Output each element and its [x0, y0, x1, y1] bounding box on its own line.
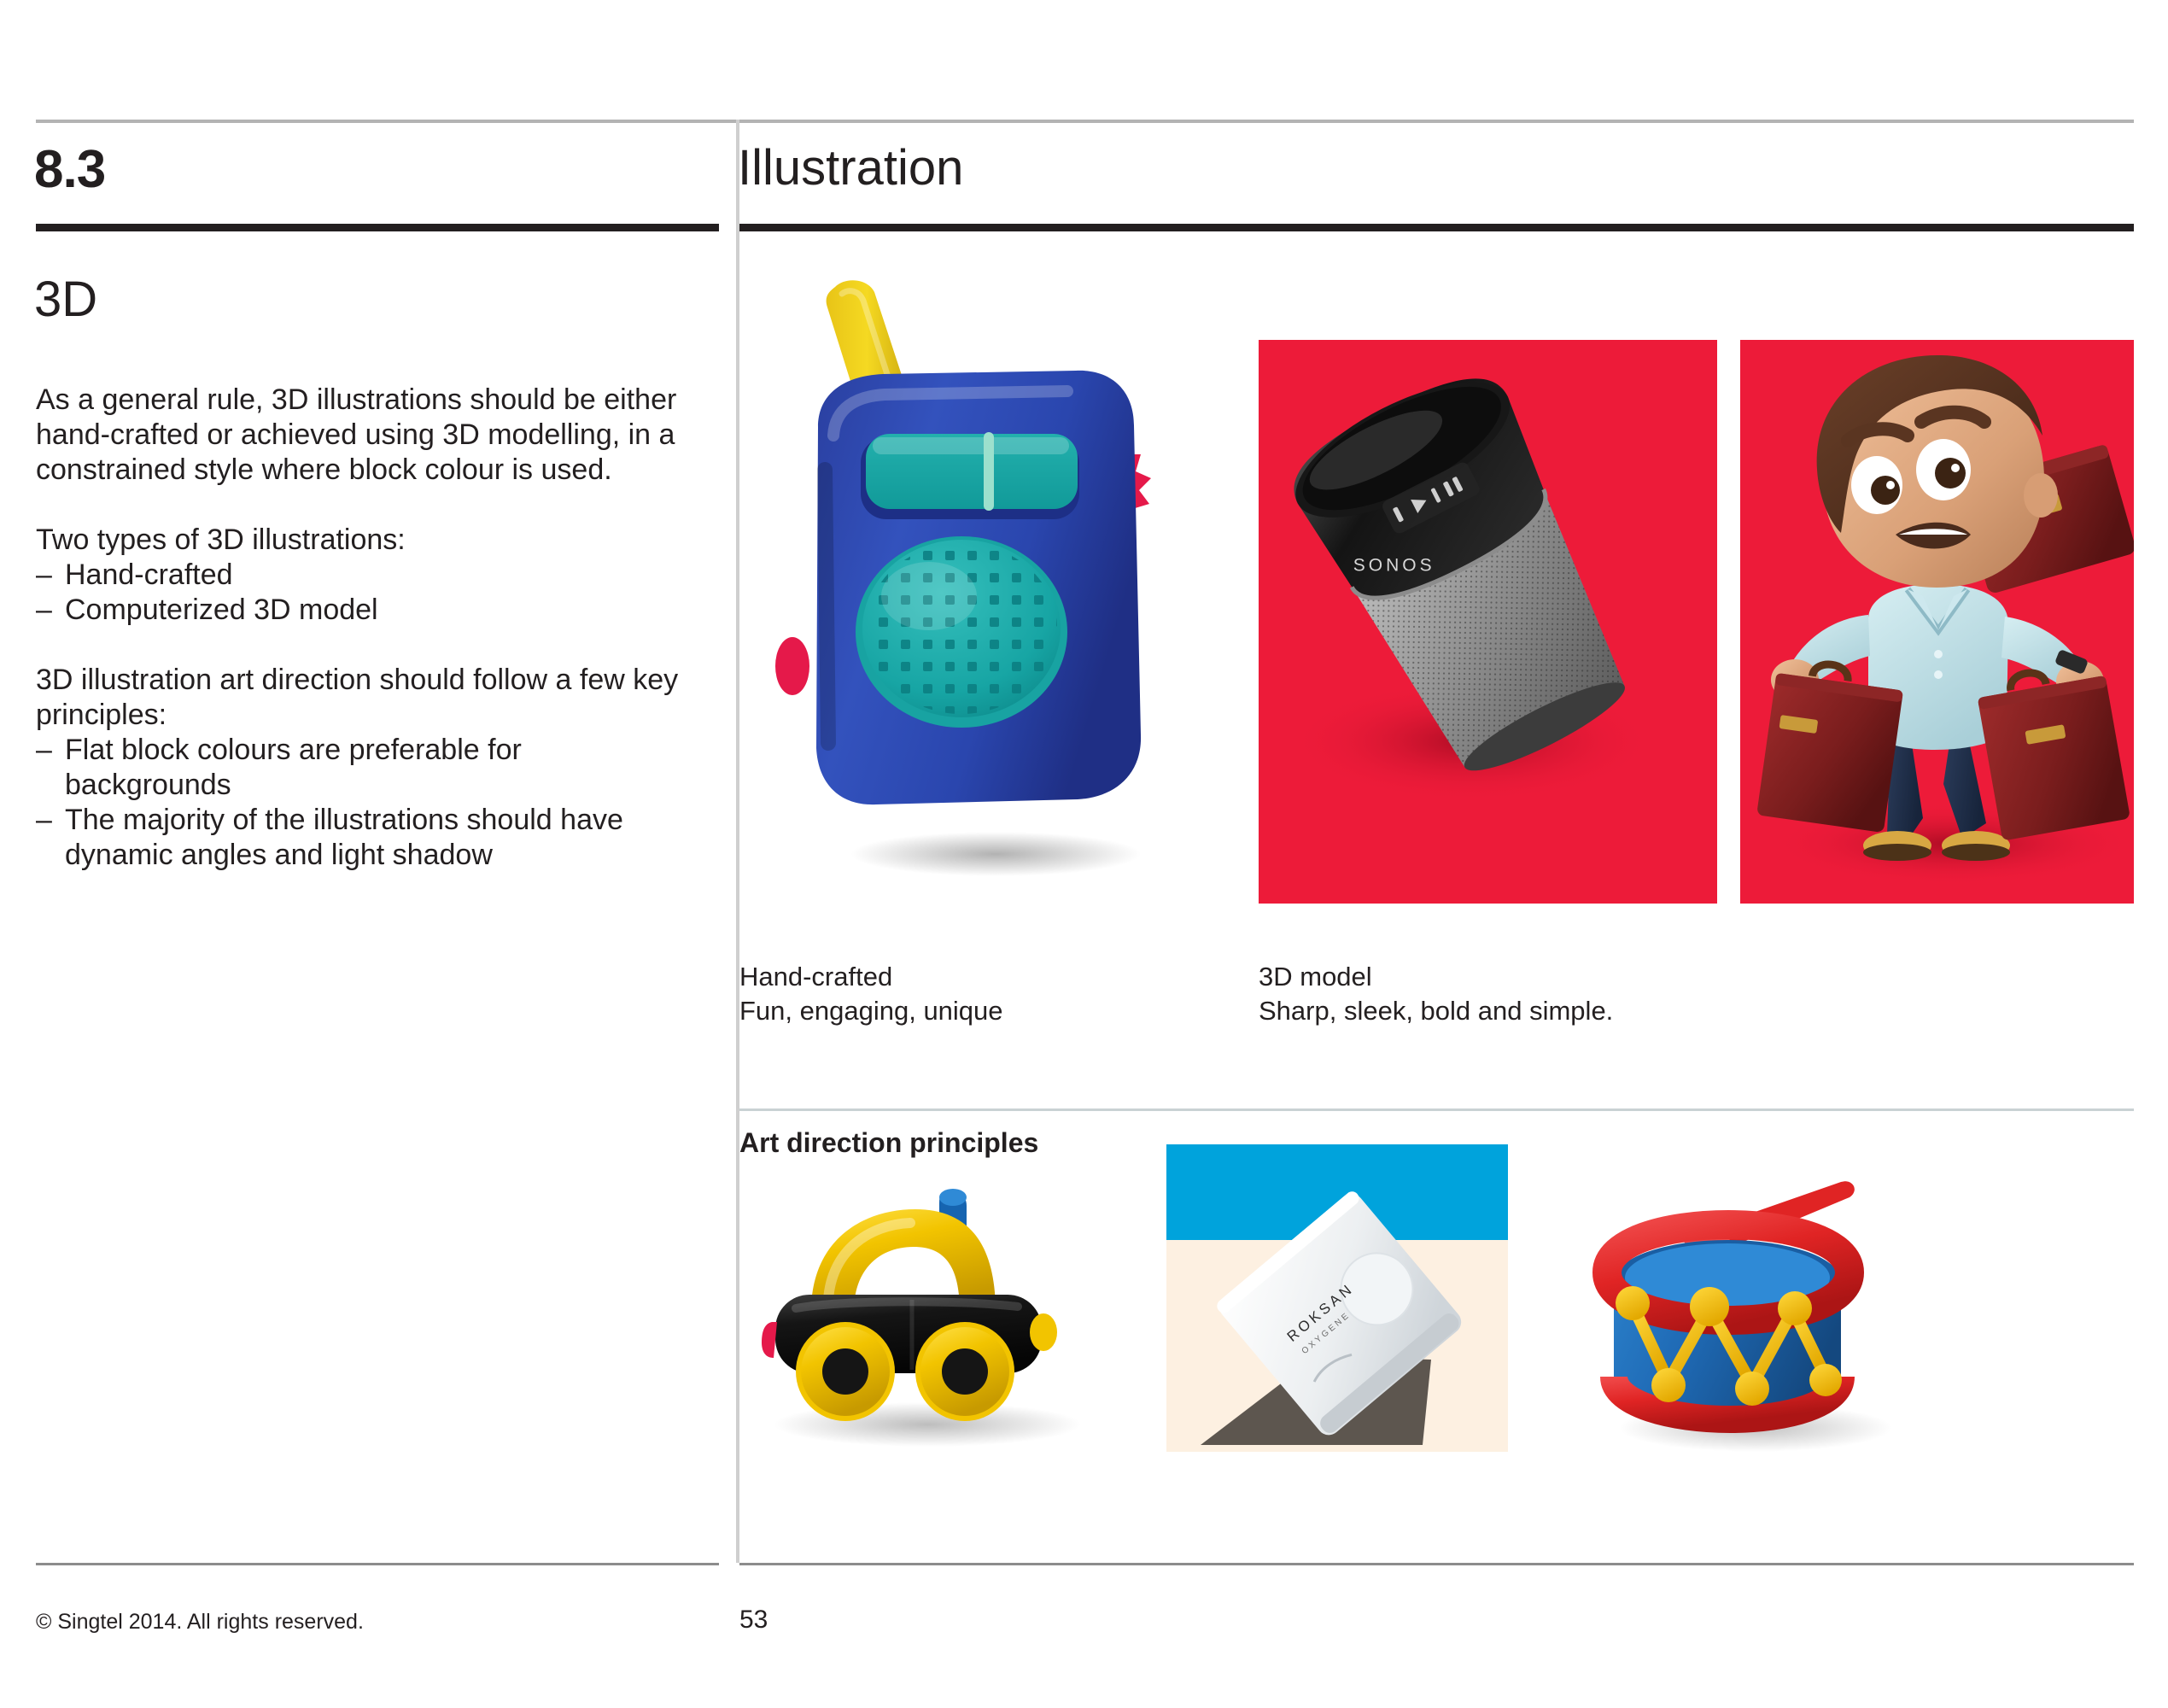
list-principles: –Flat block colours are preferable for b…: [36, 733, 685, 873]
list-item: –The majority of the illustrations shoul…: [36, 803, 685, 873]
list-two-types: –Hand-crafted –Computerized 3D model: [36, 558, 685, 628]
header-rule-left: [36, 224, 719, 231]
media-row-principles: ROKSAN OXYGENE: [739, 1161, 2134, 1520]
footer-rule-left: [36, 1563, 719, 1565]
page-title: 3D: [34, 275, 97, 325]
list-item: –Flat block colours are preferable for b…: [36, 733, 685, 803]
body-copy: As a general rule, 3D illustrations shou…: [36, 383, 685, 908]
list-item-label: Computerized 3D model: [65, 594, 378, 626]
3d-character-illustration: [1740, 340, 2134, 904]
caption-3d-model: 3D model Sharp, sleek, bold and simple.: [1259, 960, 1788, 1028]
paragraph-general-rule: As a general rule, 3D illustrations shou…: [36, 383, 685, 488]
art-direction-heading: Art direction principles: [739, 1127, 1038, 1159]
footer-page-number: 53: [739, 1606, 768, 1635]
list-item-label: Hand-crafted: [65, 559, 233, 591]
media-row-examples: SONOS: [739, 256, 2134, 939]
section-title: Illustration: [738, 143, 963, 193]
art-direction-divider: [739, 1108, 2134, 1111]
roksan-device-image: ROKSAN OXYGENE: [1166, 1127, 1508, 1469]
document-page: 8.3 Illustration 3D As a general rule, 3…: [0, 0, 2168, 1708]
sonos-red-panel: SONOS: [1259, 340, 1717, 904]
dash-bullet: –: [36, 803, 52, 838]
header-rule-right: [739, 224, 2134, 231]
caption-title: 3D model: [1259, 960, 1788, 994]
dash-bullet: –: [36, 558, 52, 593]
list-item-label: The majority of the illustrations should…: [65, 804, 623, 871]
character-red-panel: [1740, 340, 2134, 904]
caption-hand-crafted: Hand-crafted Fun, engaging, unique: [739, 960, 1218, 1028]
plasticine-toy-drum-image: [1559, 1153, 1901, 1469]
list-item: –Computerized 3D model: [36, 593, 685, 628]
list-item-label: Flat block colours are preferable for ba…: [65, 734, 522, 801]
caption-desc: Fun, engaging, unique: [739, 994, 1218, 1028]
sonos-wordmark: SONOS: [1353, 556, 1435, 576]
header-top-rule: [36, 120, 2134, 123]
footer-copyright: © Singtel 2014. All rights reserved.: [36, 1610, 364, 1635]
dash-bullet: –: [36, 733, 52, 768]
footer-rule-right: [739, 1563, 2134, 1565]
sonos-speaker-illustration: SONOS: [1259, 340, 1717, 904]
caption-title: Hand-crafted: [739, 960, 1218, 994]
caption-desc: Sharp, sleek, bold and simple.: [1259, 994, 1788, 1028]
list-item: –Hand-crafted: [36, 558, 685, 593]
section-number: 8.3: [34, 143, 105, 196]
plasticine-walkie-talkie-image: [739, 256, 1218, 931]
dash-bullet: –: [36, 593, 52, 628]
plasticine-toy-car-image: [739, 1161, 1098, 1469]
paragraph-principles-intro: 3D illustration art direction should fol…: [36, 663, 685, 733]
paragraph-two-types-intro: Two types of 3D illustrations:: [36, 523, 685, 558]
